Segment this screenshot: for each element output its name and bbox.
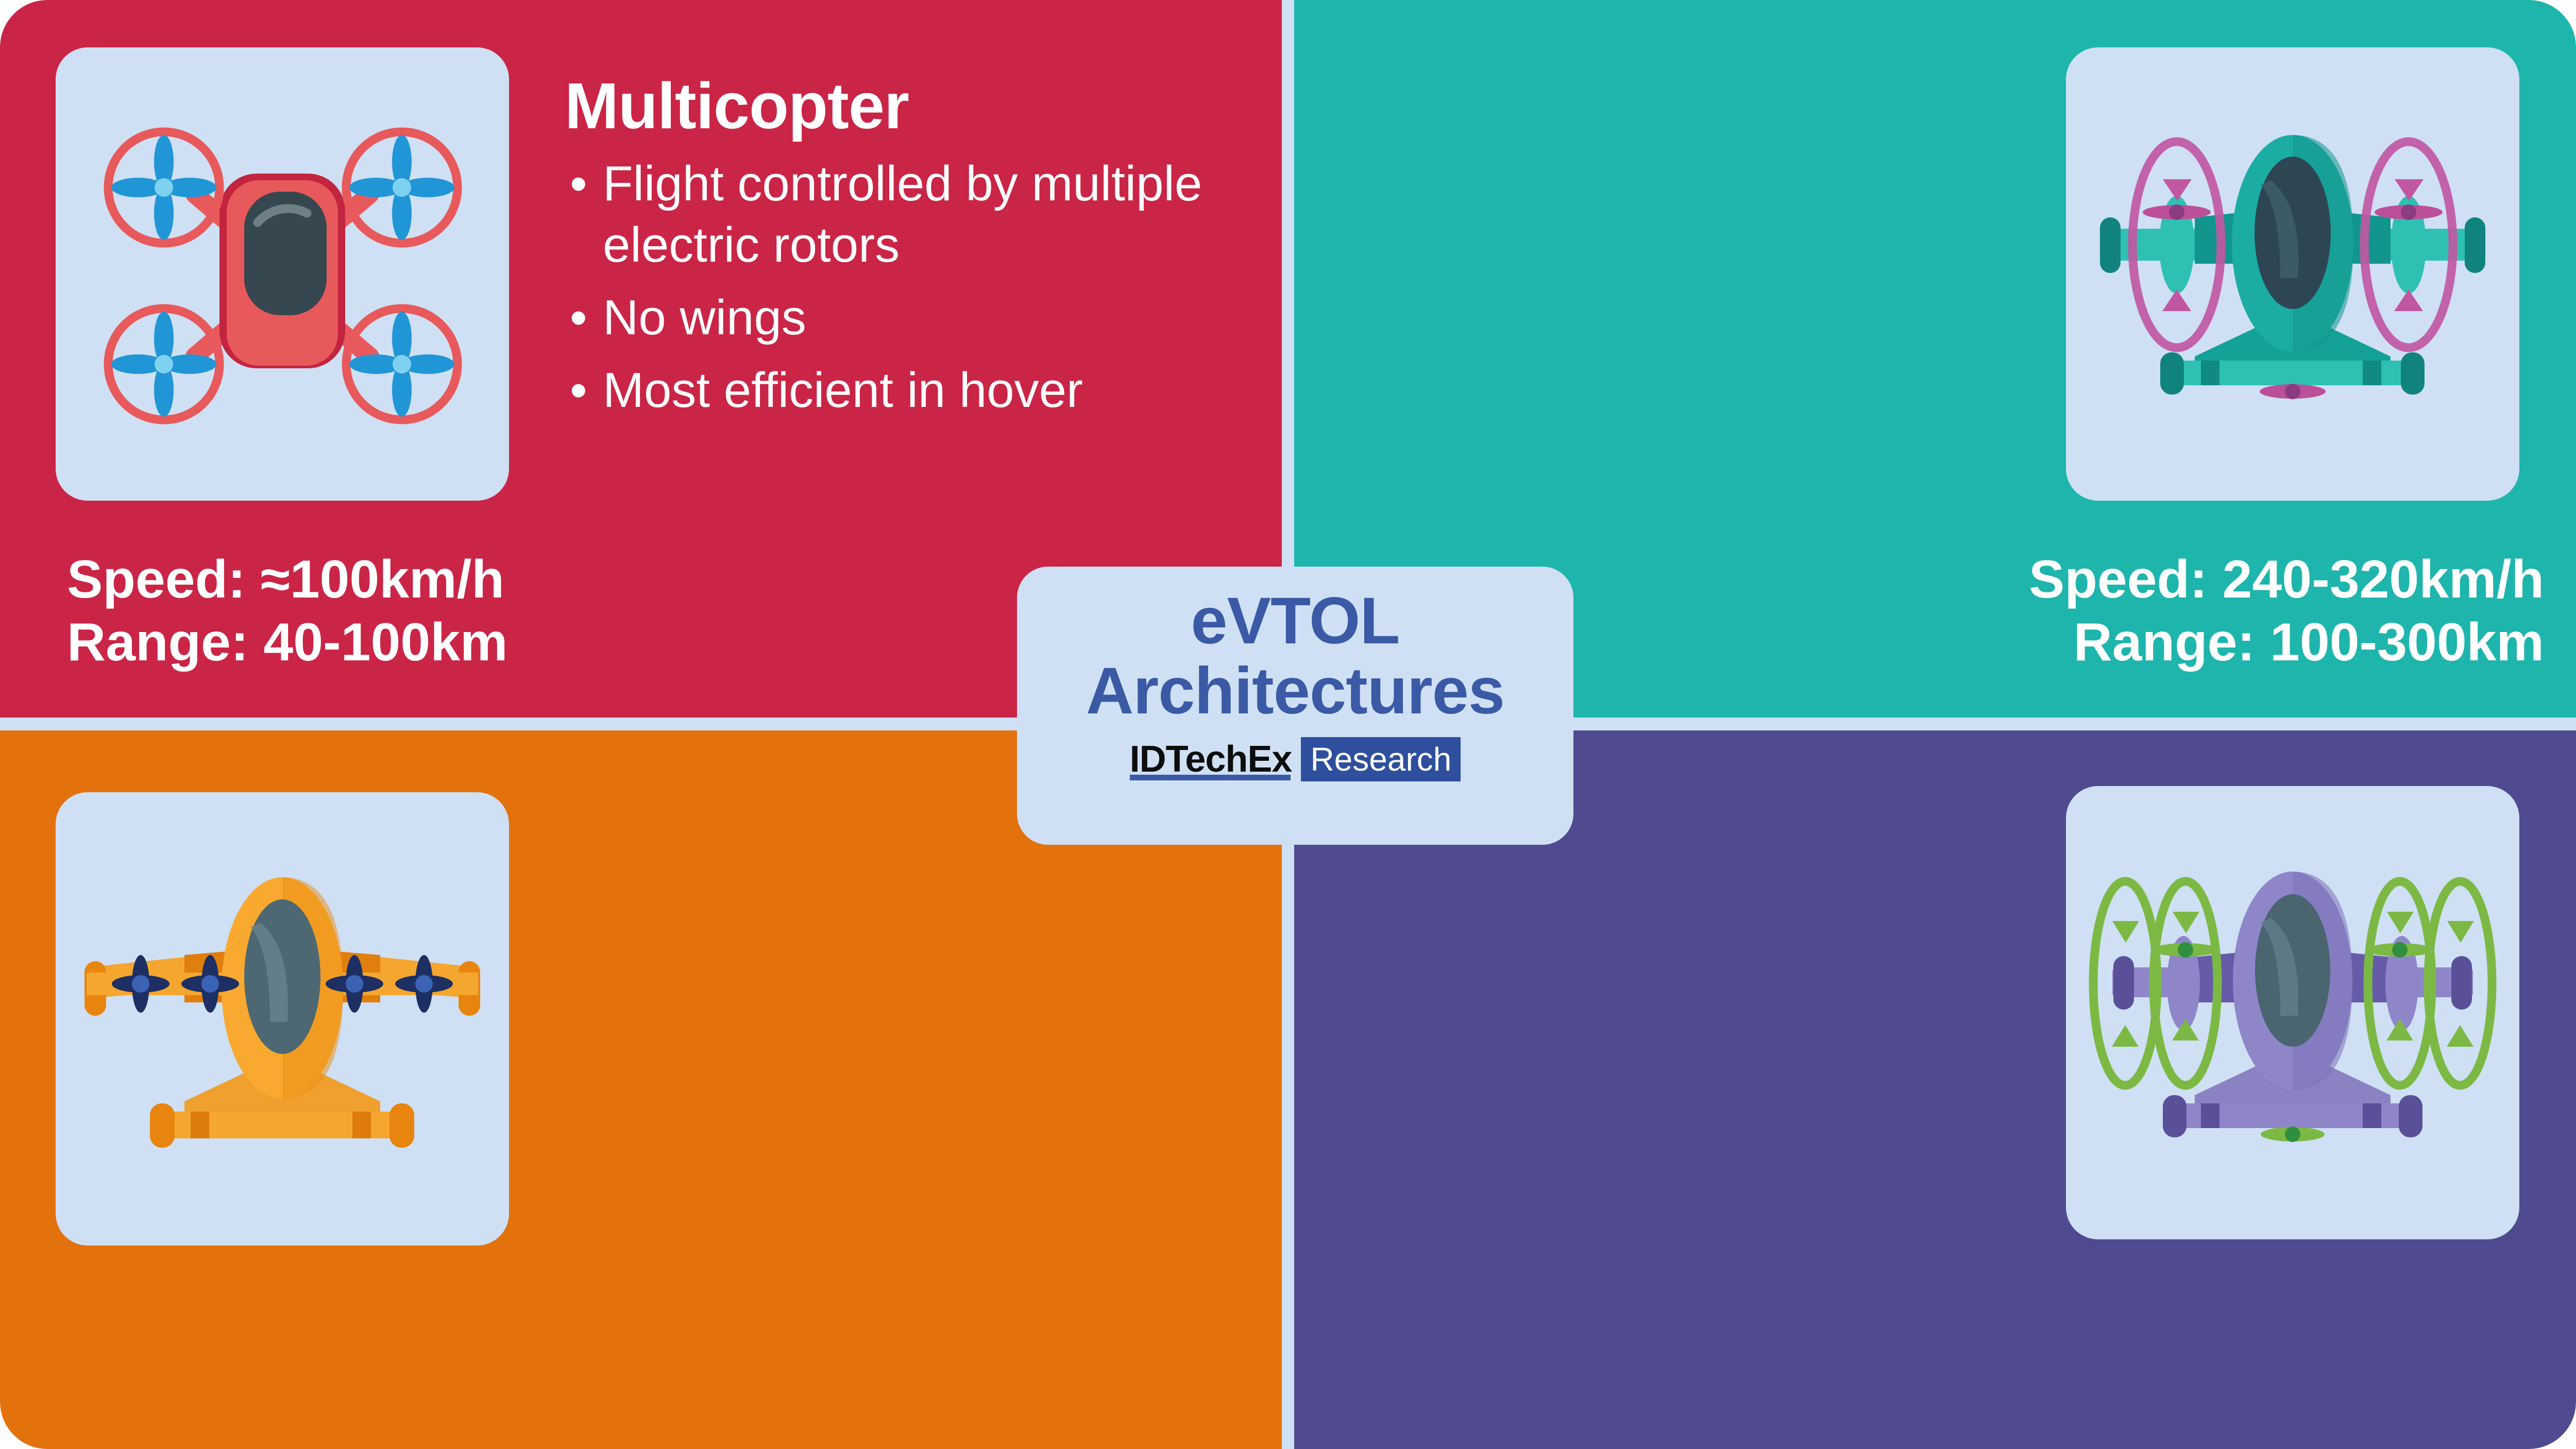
- lift-and-cruise-aircraft-icon: [56, 792, 509, 1246]
- page-title-line-2: Architectures: [1086, 656, 1504, 726]
- bullet-glyph-icon: •: [570, 287, 587, 348]
- evtol-architectures-infographic: Multicopter •Flight controlled by multip…: [0, 0, 2576, 1449]
- page-title: eVTOL Architectures: [1086, 586, 1504, 726]
- tiltwing-aircraft-icon: [2066, 786, 2519, 1239]
- page-title-line-1: eVTOL: [1086, 586, 1504, 656]
- tiltrotor-range: Range: 100-300km: [2029, 611, 2544, 674]
- tiltrotor-spec-block: Speed: 240-320km/h Range: 100-300km: [2029, 549, 2544, 674]
- tiltwing-illustration-panel: [2066, 786, 2519, 1239]
- research-badge: Research: [1301, 737, 1461, 781]
- multicopter-text-block: Multicopter •Flight controlled by multip…: [565, 72, 1250, 432]
- multicopter-drone-icon: [56, 47, 509, 501]
- idtechex-underline-rule: [1130, 775, 1291, 780]
- multicopter-bullet-list: •Flight controlled by multiple electric …: [565, 153, 1250, 421]
- center-badge: eVTOL Architectures IDTechEx Research: [1017, 567, 1573, 845]
- bullet-glyph-icon: •: [570, 360, 587, 421]
- multicopter-range: Range: 40-100km: [67, 611, 508, 674]
- multicopter-spec-block: Speed: ≈100km/h Range: 40-100km: [67, 549, 508, 674]
- list-item: •Flight controlled by multiple electric …: [565, 153, 1250, 276]
- tiltrotor-speed: Speed: 240-320km/h: [2029, 549, 2544, 611]
- bullet-glyph-icon: •: [570, 153, 587, 214]
- idtechex-wordmark-text: IDTechEx: [1130, 741, 1292, 778]
- tiltrotor-aircraft-icon: [2066, 47, 2519, 501]
- idtechex-research-logo: IDTechEx Research: [1130, 737, 1461, 781]
- bullet-text: Most efficient in hover: [603, 363, 1083, 418]
- list-item: •Most efficient in hover: [565, 360, 1250, 421]
- list-item: •No wings: [565, 287, 1250, 348]
- lift-and-cruise-illustration-panel: [56, 792, 509, 1246]
- multicopter-illustration-panel: [56, 47, 509, 501]
- idtechex-wordmark: IDTechEx: [1130, 737, 1295, 781]
- bullet-text: Flight controlled by multiple electric r…: [603, 156, 1202, 272]
- multicopter-speed: Speed: ≈100km/h: [67, 549, 508, 611]
- multicopter-title: Multicopter: [565, 72, 1250, 140]
- tiltrotor-illustration-panel: [2066, 47, 2519, 501]
- bullet-text: No wings: [603, 290, 806, 345]
